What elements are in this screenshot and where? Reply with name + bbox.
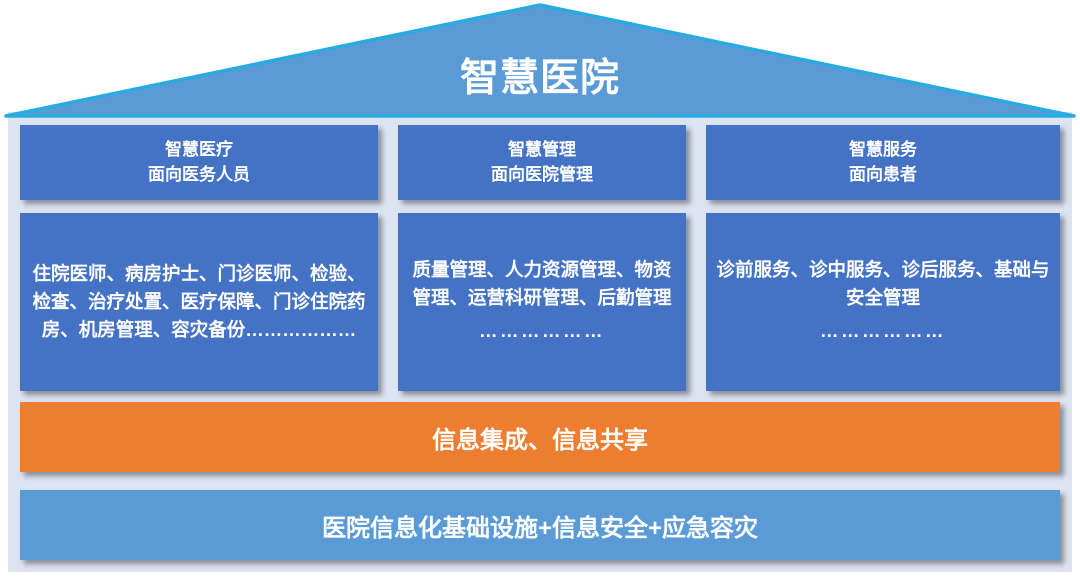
diagram-canvas: 智慧医院 智慧医疗 面向医务人员 智慧管理 面向医院管理 智慧服务 面向患者 住… bbox=[0, 0, 1080, 577]
column-header-smart-medical[interactable]: 智慧医疗 面向医务人员 bbox=[20, 125, 378, 200]
column-header-line1: 智慧医疗 bbox=[148, 138, 250, 163]
infrastructure-bar-label: 医院信息化基础设施+信息安全+应急容灾 bbox=[322, 508, 758, 543]
column-body-smart-medical[interactable]: 住院医师、病房护士、门诊医师、检验、检查、治疗处置、医疗保障、门诊住院药房、机房… bbox=[20, 213, 378, 391]
column-body-ellipsis: ……………… bbox=[408, 313, 676, 348]
column-header-line1: 智慧服务 bbox=[849, 138, 917, 163]
column-body-smart-service[interactable]: 诊前服务、诊中服务、诊后服务、基础与安全管理 ……………… bbox=[706, 213, 1060, 391]
infrastructure-bar[interactable]: 医院信息化基础设施+信息安全+应急容灾 bbox=[20, 490, 1060, 560]
column-body-text: 质量管理、人力资源管理、物资管理、运营科研管理、后勤管理 bbox=[408, 256, 676, 312]
integration-bar[interactable]: 信息集成、信息共享 bbox=[20, 402, 1060, 472]
column-header-line2: 面向患者 bbox=[849, 163, 917, 188]
column-body-smart-management[interactable]: 质量管理、人力资源管理、物资管理、运营科研管理、后勤管理 ……………… bbox=[398, 213, 686, 391]
column-header-smart-management[interactable]: 智慧管理 面向医院管理 bbox=[398, 125, 686, 200]
column-body-text: 住院医师、病房护士、门诊医师、检验、检查、治疗处置、医疗保障、门诊住院药房、机房… bbox=[30, 260, 368, 344]
column-header-line2: 面向医院管理 bbox=[491, 163, 593, 188]
column-header-line1: 智慧管理 bbox=[491, 138, 593, 163]
integration-bar-label: 信息集成、信息共享 bbox=[432, 420, 648, 455]
column-body-text: 诊前服务、诊中服务、诊后服务、基础与安全管理 bbox=[716, 256, 1050, 312]
column-body-ellipsis: ……………… bbox=[716, 313, 1050, 348]
column-header-smart-service[interactable]: 智慧服务 面向患者 bbox=[706, 125, 1060, 200]
page-title: 智慧医院 bbox=[0, 59, 1080, 98]
column-header-line2: 面向医务人员 bbox=[148, 163, 250, 188]
